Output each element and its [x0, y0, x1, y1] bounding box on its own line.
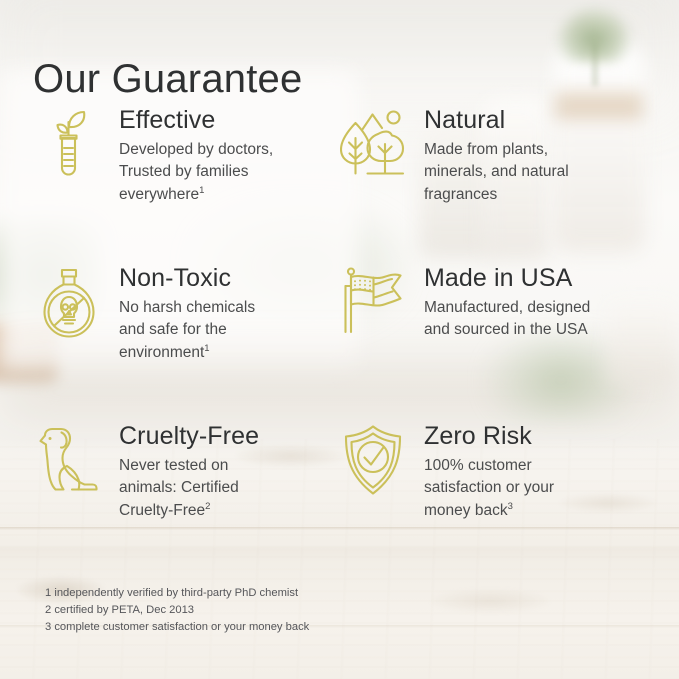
footnote-ref: 1	[199, 184, 204, 195]
desc-line: Made from plants,	[424, 141, 548, 158]
feature-title: Effective	[119, 106, 273, 134]
desc-line: Cruelty-Free	[119, 502, 205, 519]
feature-effective: Effective Developed by doctors, Trusted …	[33, 104, 336, 262]
footnote-item: 2 certified by PETA, Dec 2013	[45, 602, 309, 619]
guarantee-grid: Effective Developed by doctors, Trusted …	[33, 104, 657, 578]
leaf-tree-nature-icon	[336, 104, 410, 182]
desc-line: Trusted by families	[119, 163, 249, 180]
shield-check-icon	[336, 420, 410, 498]
feature-non-toxic: Non-Toxic No harsh chemicals and safe fo…	[33, 262, 336, 420]
sitting-dog-icon	[33, 420, 105, 498]
feature-zero-risk: Zero Risk 100% customer satisfaction or …	[336, 420, 657, 578]
feature-title: Cruelty-Free	[119, 422, 259, 450]
desc-line: Developed by doctors,	[119, 141, 273, 158]
feature-description: No harsh chemicals and safe for the envi…	[119, 297, 255, 364]
feature-title: Made in USA	[424, 264, 590, 292]
desc-line: Manufactured, designed	[424, 299, 590, 316]
feature-title: Natural	[424, 106, 569, 134]
desc-line: 100% customer	[424, 457, 532, 474]
desc-line: animals: Certified	[119, 479, 239, 496]
feature-cruelty-free: Cruelty-Free Never tested on animals: Ce…	[33, 420, 336, 578]
no-poison-bottle-icon	[33, 262, 105, 340]
usa-flag-icon	[336, 262, 410, 340]
desc-line: fragrances	[424, 186, 497, 203]
feature-text: Natural Made from plants, minerals, and …	[424, 104, 569, 206]
feature-description: 100% customer satisfaction or your money…	[424, 455, 554, 522]
feature-description: Developed by doctors, Trusted by familie…	[119, 139, 273, 206]
desc-line: money back	[424, 502, 508, 519]
feature-description: Made from plants, minerals, and natural …	[424, 139, 569, 206]
desc-line: environment	[119, 344, 204, 361]
footnote-ref: 3	[508, 500, 513, 511]
page-title: Our Guarantee	[33, 57, 302, 101]
footnotes: 1 independently verified by third-party …	[45, 585, 309, 636]
guarantee-infographic: Our Guarantee Effective	[0, 0, 679, 679]
footnote-item: 3 complete customer satisfaction or your…	[45, 619, 309, 636]
feature-title: Non-Toxic	[119, 264, 255, 292]
feature-description: Manufactured, designed and sourced in th…	[424, 297, 590, 342]
test-tube-sprout-icon	[33, 104, 105, 182]
feature-text: Zero Risk 100% customer satisfaction or …	[424, 420, 554, 522]
feature-text: Effective Developed by doctors, Trusted …	[119, 104, 273, 206]
desc-line: satisfaction or your	[424, 479, 554, 496]
feature-made-in-usa: Made in USA Manufactured, designed and s…	[336, 262, 657, 420]
footnote-ref: 2	[205, 500, 210, 511]
feature-text: Cruelty-Free Never tested on animals: Ce…	[119, 420, 259, 522]
feature-natural: Natural Made from plants, minerals, and …	[336, 104, 657, 262]
feature-title: Zero Risk	[424, 422, 554, 450]
desc-line: Never tested on	[119, 457, 228, 474]
content-layer: Our Guarantee Effective	[0, 0, 679, 679]
feature-text: Non-Toxic No harsh chemicals and safe fo…	[119, 262, 255, 364]
feature-description: Never tested on animals: Certified Cruel…	[119, 455, 259, 522]
desc-line: and safe for the	[119, 321, 227, 338]
desc-line: everywhere	[119, 186, 199, 203]
desc-line: minerals, and natural	[424, 163, 569, 180]
footnote-item: 1 independently verified by third-party …	[45, 585, 309, 602]
feature-text: Made in USA Manufactured, designed and s…	[424, 262, 590, 342]
desc-line: No harsh chemicals	[119, 299, 255, 316]
footnote-ref: 1	[204, 342, 209, 353]
desc-line: and sourced in the USA	[424, 321, 588, 338]
